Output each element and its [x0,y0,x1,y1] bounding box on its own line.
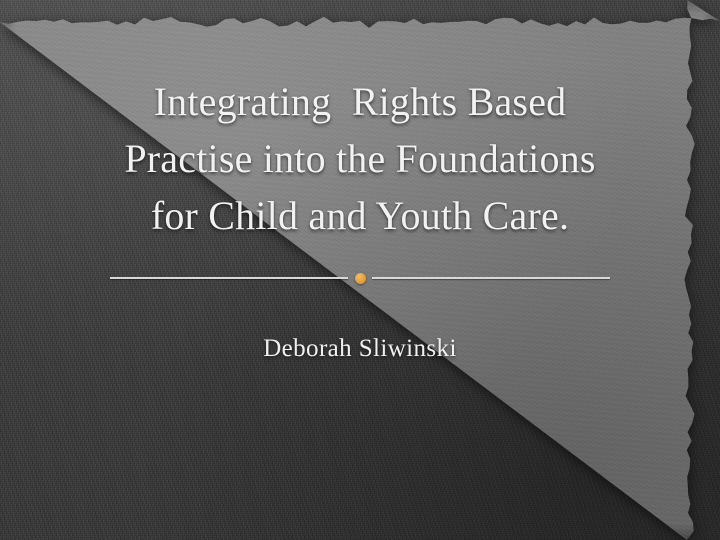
title-line-3: for Child and Youth Care. [34,187,686,244]
subtitle-container: Deborah Sliwinski [0,333,720,365]
slide-content: Integrating Rights Based Practise into t… [0,0,720,540]
divider-line-right [372,277,610,279]
divider [110,277,610,279]
page-title: Integrating Rights Based Practise into t… [0,73,720,244]
accent-dot-icon [355,273,366,284]
title-line-2: Practise into the Foundations [34,130,686,187]
divider-line-left [110,277,348,279]
author-name: Deborah Sliwinski [263,333,457,365]
title-line-1: Integrating Rights Based [34,73,686,130]
title-slide: Integrating Rights Based Practise into t… [0,0,720,540]
